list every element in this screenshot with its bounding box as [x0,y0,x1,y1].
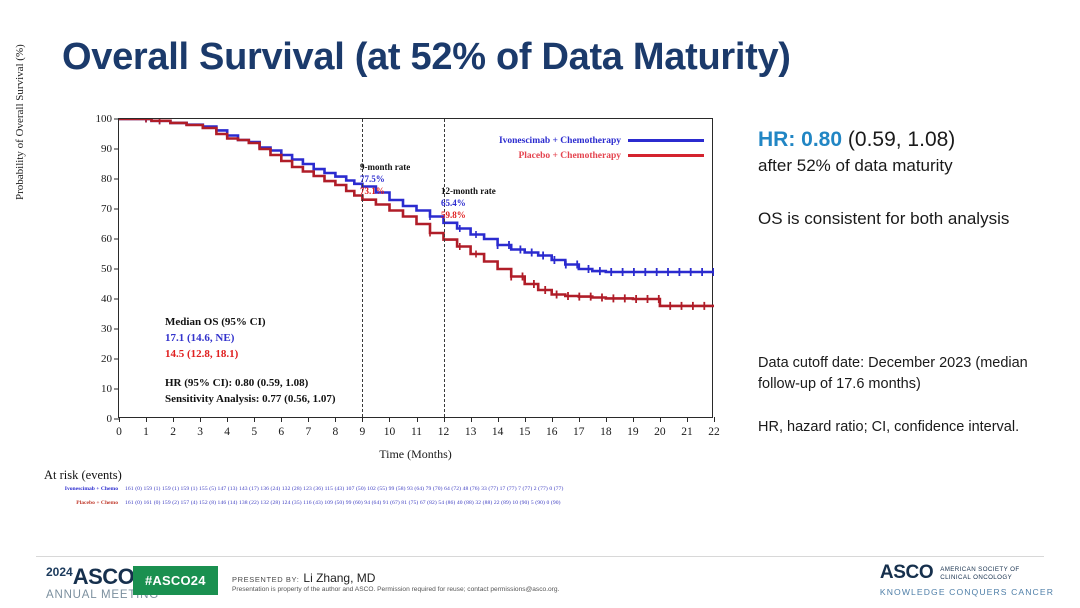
asco-society-line2: CLINICAL ONCOLOGY [940,574,1012,581]
legend-label-ivonescimab: Ivonescimab + Chemotherapy [499,136,621,146]
x-tick-mark [308,417,309,422]
y-tick-label: 20 [101,353,112,365]
x-tick-mark [579,417,580,422]
asco-year: 2024 [46,565,73,579]
at-risk-label-placebo: Placebo + Chemo [38,500,118,506]
y-tick-label: 60 [101,233,112,245]
x-tick-label: 6 [278,426,284,438]
x-tick-mark [525,417,526,422]
y-tick-label: 40 [101,293,112,305]
plot-area: Ivonescimab + Chemotherapy Placebo + Che… [118,118,713,418]
x-tick-mark [714,417,715,422]
x-tick-label: 7 [305,426,311,438]
os-consistency-text: OS is consistent for both analysis [758,208,1058,231]
legend-swatch-placebo [628,154,704,157]
at-risk-values-placebo: 161 (0) 161 (0) 159 (2) 157 (4) 152 (8) … [125,500,561,506]
median-os-ivonescimab: 17.1 (14.6, NE) [165,331,336,347]
hr-confidence-interval: (0.59, 1.08) [848,128,955,151]
asco-society-line1: AMERICAN SOCIETY OF [940,566,1019,573]
presenter-line: PRESENTED BY:Li Zhang, MD [232,569,375,587]
hr-value: 0.80 [801,128,842,151]
y-tick-label: 90 [101,143,112,155]
legend-item-placebo: Placebo + Chemotherapy [499,148,704,163]
y-tick-label: 50 [101,263,112,275]
survival-chart: Probability of Overall Survival (%) Ivon… [36,108,726,528]
x-tick-mark [227,417,228,422]
y-tick-label: 100 [96,113,113,125]
x-tick-label: 2 [170,426,176,438]
y-tick-mark [114,149,119,150]
chart-legend: Ivonescimab + Chemotherapy Placebo + Che… [499,133,704,163]
y-axis-label: Probability of Overall Survival (%) [14,44,26,200]
legend-label-placebo: Placebo + Chemotherapy [518,151,621,161]
y-tick-mark [114,239,119,240]
median-os-header: Median OS (95% CI) [165,315,336,331]
median-os-placebo: 14.5 (12.8, 18.1) [165,347,336,363]
y-tick-label: 30 [101,323,112,335]
annotation-12-month-blue: 65.4% [441,197,496,209]
at-risk-row-placebo: Placebo + Chemo 161 (0) 161 (0) 159 (2) … [38,500,561,506]
x-tick-mark [444,417,445,422]
annotation-12-month-header: 12-month rate [441,185,496,197]
x-tick-mark [200,417,201,422]
x-tick-mark [389,417,390,422]
x-tick-label: 9 [360,426,366,438]
annotation-9-month-header: 9-month rate [360,161,410,173]
x-tick-mark [254,417,255,422]
annotation-12-month: 12-month rate 65.4% 59.8% [441,185,496,221]
x-tick-label: 22 [708,426,720,438]
presented-by-label: PRESENTED BY: [232,575,299,584]
at-risk-values-ivonescimab: 161 (0) 159 (1) 159 (1) 159 (1) 155 (5) … [125,486,564,492]
at-risk-label-ivonescimab: Ivonescimab + Chemo [38,486,118,492]
footer-disclaimer: Presentation is property of the author a… [232,586,559,593]
annotation-9-month: 9-month rate 77.5% 73.1% [360,161,410,197]
x-tick-mark [281,417,282,422]
x-tick-mark [633,417,634,422]
hr-headline: HR: 0.80 (0.59, 1.08) [758,126,1058,153]
annotation-9-month-blue: 77.5% [360,173,410,185]
y-tick-mark [114,269,119,270]
y-tick-mark [114,359,119,360]
x-tick-label: 19 [627,426,639,438]
x-tick-mark [146,417,147,422]
x-tick-label: 18 [600,426,612,438]
x-tick-mark [173,417,174,422]
statistics-box: Median OS (95% CI) 17.1 (14.6, NE) 14.5 … [165,315,336,408]
x-tick-mark [335,417,336,422]
x-axis-label: Time (Months) [379,447,452,462]
x-tick-label: 13 [465,426,477,438]
x-tick-mark [687,417,688,422]
y-tick-label: 80 [101,173,112,185]
presenter-name: Li Zhang, MD [303,571,375,585]
x-tick-label: 0 [116,426,122,438]
x-tick-label: 20 [654,426,666,438]
x-tick-label: 4 [224,426,230,438]
abbreviations-text: HR, hazard ratio; CI, confidence interva… [758,417,1058,438]
at-risk-title: At risk (events) [44,468,122,483]
x-tick-label: 12 [438,426,450,438]
x-tick-mark [552,417,553,422]
asco-tagline: KNOWLEDGE CONQUERS CANCER [880,587,1054,597]
y-tick-mark [114,119,119,120]
x-tick-mark [362,417,363,422]
x-tick-label: 21 [681,426,693,438]
y-tick-label: 70 [101,203,112,215]
y-tick-mark [114,179,119,180]
reference-line-12-month [444,119,445,417]
x-tick-label: 10 [384,426,396,438]
x-tick-mark [606,417,607,422]
legend-swatch-ivonescimab [628,139,704,142]
x-tick-label: 11 [411,426,422,438]
at-risk-row-ivonescimab: Ivonescimab + Chemo 161 (0) 159 (1) 159 … [38,486,564,492]
x-tick-mark [119,417,120,422]
footer-divider [36,556,1044,557]
asco-society-name: AMERICAN SOCIETY OF CLINICAL ONCOLOGY [940,566,1019,583]
page-title: Overall Survival (at 52% of Data Maturit… [62,36,791,79]
x-tick-label: 14 [492,426,504,438]
hr-ci-line: HR (95% CI): 0.80 (0.59, 1.08) [165,376,336,392]
legend-item-ivonescimab: Ivonescimab + Chemotherapy [499,133,704,148]
summary-panel: HR: 0.80 (0.59, 1.08) after 52% of data … [758,126,1058,438]
hashtag-badge: #ASCO24 [133,566,218,595]
data-cutoff-text: Data cutoff date: December 2023 (median … [758,353,1058,395]
hr-subtext: after 52% of data maturity [758,155,1058,178]
y-tick-mark [114,209,119,210]
asco-logo-text: ASCO [880,563,933,582]
y-tick-mark [114,389,119,390]
x-tick-mark [471,417,472,422]
x-tick-label: 3 [197,426,203,438]
y-tick-mark [114,299,119,300]
annotation-12-month-red: 59.8% [441,209,496,221]
asco-society-logo: ASCO AMERICAN SOCIETY OF CLINICAL ONCOLO… [880,563,1054,597]
sensitivity-analysis-line: Sensitivity Analysis: 0.77 (0.56, 1.07) [165,392,336,408]
x-tick-mark [417,417,418,422]
x-tick-label: 16 [546,426,558,438]
x-tick-label: 5 [251,426,257,438]
y-tick-label: 10 [101,383,112,395]
x-tick-label: 1 [143,426,149,438]
hr-label: HR: [758,128,795,151]
x-tick-mark [498,417,499,422]
annotation-9-month-red: 73.1% [360,185,410,197]
x-tick-label: 17 [573,426,585,438]
x-tick-label: 8 [332,426,338,438]
y-tick-mark [114,329,119,330]
y-tick-label: 0 [107,413,113,425]
slide: Overall Survival (at 52% of Data Maturit… [0,0,1080,608]
x-tick-label: 15 [519,426,531,438]
x-tick-mark [660,417,661,422]
asco-wordmark: ASCO [73,564,135,589]
